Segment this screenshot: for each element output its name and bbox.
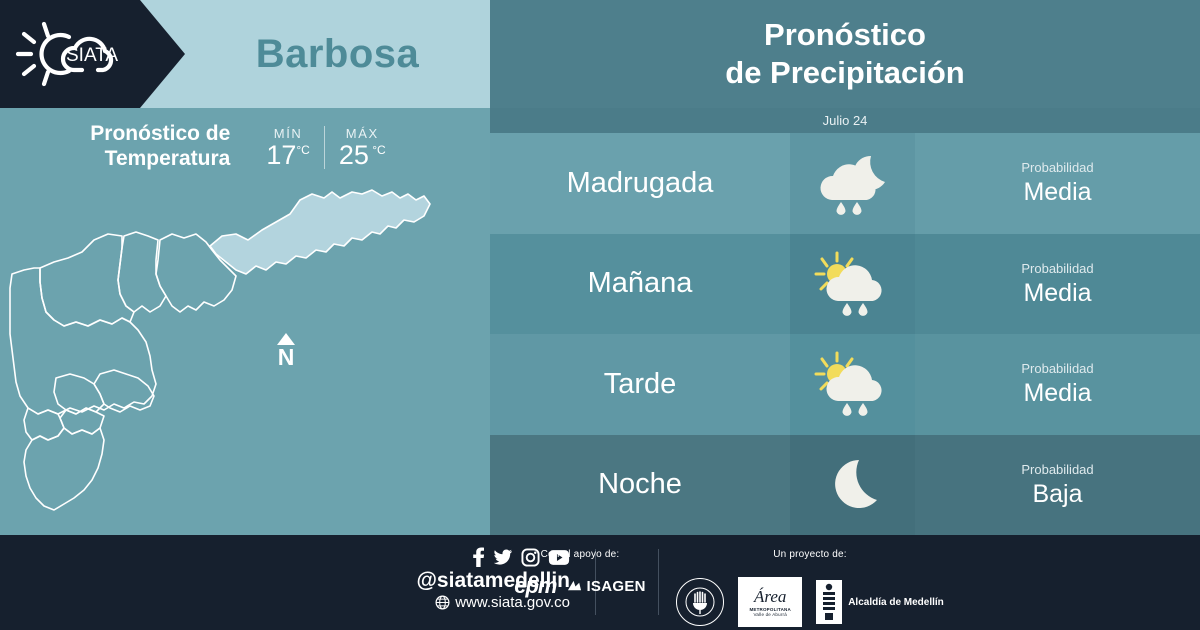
temperature-max: MÁX 25 °C — [325, 126, 400, 169]
probability-cell: Probabilidad Media — [915, 234, 1200, 335]
alcaldia-mark-icon — [816, 580, 842, 624]
project-logos: Área METROPOLITANA Valle de Aburrá — [676, 577, 944, 627]
temperature-max-value: 25 — [339, 140, 369, 170]
facebook-icon[interactable] — [472, 547, 485, 567]
period-label: Tarde — [604, 368, 677, 401]
moon-cloud-rain-icon — [811, 150, 895, 216]
sun-cloud-rain-icon — [811, 251, 895, 317]
left-panel: SIATA Barbosa Pronóstico de Temperatura … — [0, 0, 490, 535]
map-region-barbosa — [210, 190, 430, 274]
period-label: Madrugada — [567, 167, 714, 200]
probability-caption: Probabilidad — [1021, 461, 1093, 479]
map-region-medellin — [10, 268, 156, 414]
probability-cell: Probabilidad Media — [915, 133, 1200, 234]
probability-cell: Probabilidad Media — [915, 334, 1200, 435]
epm-logo: epm — [514, 573, 556, 599]
support-logos: epm ISAGEN — [514, 573, 646, 599]
temperature-max-label: MÁX — [346, 126, 379, 141]
udea-emblem-icon — [684, 586, 716, 618]
period-cell: Tarde — [490, 334, 790, 435]
temperature-min: MÍN 17°C — [252, 126, 325, 169]
forecast-date: Julio 24 — [490, 108, 1200, 133]
project-caption: Un proyecto de: — [773, 549, 847, 560]
probability-value: Baja — [1032, 479, 1082, 509]
temperature-values: MÍN 17°C MÁX 25 °C — [252, 126, 399, 169]
temperature-min-value-group: 17°C — [266, 142, 310, 169]
probability-caption: Probabilidad — [1021, 360, 1093, 378]
right-panel: Pronóstico de Precipitación Julio 24 Mad… — [490, 0, 1200, 535]
amva-logo: Área METROPOLITANA Valle de Aburrá — [738, 577, 802, 627]
aburra-valley-map — [0, 178, 490, 535]
probability-cell: Probabilidad Baja — [915, 435, 1200, 536]
map-region-bello — [40, 234, 134, 326]
moon-icon — [811, 452, 895, 518]
period-cell: Mañana — [490, 234, 790, 335]
period-cell: Noche — [490, 435, 790, 536]
sun-cloud-icon: SIATA — [12, 18, 132, 90]
support-caption: Con el apoyo de: — [541, 549, 620, 560]
probability-caption: Probabilidad — [1021, 260, 1093, 278]
temperature-min-label: MÍN — [274, 126, 303, 141]
alcaldia-emblem-icon — [816, 580, 842, 624]
weather-icon-cell — [790, 334, 915, 435]
city-title: Barbosa — [185, 0, 490, 108]
temperature-block: Pronóstico de Temperatura MÍN 17°C MÁX 2… — [0, 112, 490, 182]
map-svg — [0, 178, 490, 535]
probability-value: Media — [1023, 378, 1091, 408]
forecast-row-noche[interactable]: Noche Probabilidad Baja — [490, 435, 1200, 536]
forecast-row-manana[interactable]: Mañana — [490, 234, 1200, 335]
precipitation-title-line1: Pronóstico — [725, 16, 964, 54]
isagen-mark-icon — [566, 579, 583, 594]
amva-name: Área — [754, 588, 786, 605]
footer: @siatamedellin www.siata.gov.co Con el a… — [0, 535, 1200, 630]
temperature-min-unit: °C — [296, 143, 309, 157]
forecast-row-tarde[interactable]: Tarde — [490, 334, 1200, 435]
project-block: Un proyecto de: Área METROPOLITANA Valle… — [665, 549, 955, 627]
udea-seal-icon — [676, 578, 724, 626]
probability-caption: Probabilidad — [1021, 159, 1093, 177]
siata-logo-text: SIATA — [66, 45, 118, 66]
sun-cloud-rain-icon — [811, 351, 895, 417]
weather-icon-cell — [790, 133, 915, 234]
temperature-title-line1: Pronóstico de — [90, 122, 230, 147]
precipitation-title-line2: de Precipitación — [725, 54, 964, 92]
weather-icon-cell — [790, 435, 915, 536]
forecast-row-madrugada[interactable]: Madrugada Probabilidad Media — [490, 133, 1200, 234]
forecast-rows: Madrugada Probabilidad Media — [490, 133, 1200, 535]
period-cell: Madrugada — [490, 133, 790, 234]
temperature-title-line2: Temperatura — [90, 147, 230, 172]
city-name: Barbosa — [256, 32, 420, 77]
globe-icon — [435, 595, 450, 610]
period-label: Noche — [598, 468, 682, 501]
footer-divider-2 — [658, 549, 659, 615]
probability-value: Media — [1023, 278, 1091, 308]
amva-sub2: Valle de Aburrá — [753, 612, 786, 617]
temperature-title: Pronóstico de Temperatura — [90, 122, 230, 172]
compass-label: N — [278, 346, 295, 369]
period-label: Mañana — [588, 267, 693, 300]
temperature-max-value-group: 25 °C — [339, 142, 386, 169]
compass-north-icon: N — [277, 333, 295, 369]
weather-forecast-infographic: SIATA Barbosa Pronóstico de Temperatura … — [0, 0, 1200, 630]
precipitation-title: Pronóstico de Precipitación — [725, 16, 964, 92]
probability-value: Media — [1023, 177, 1091, 207]
weather-icon-cell — [790, 234, 915, 335]
temperature-max-unit: °C — [372, 143, 385, 157]
temperature-min-value: 17 — [266, 140, 296, 170]
support-block: Con el apoyo de: epm ISAGEN — [505, 549, 655, 599]
precipitation-header: Pronóstico de Precipitación — [490, 0, 1200, 108]
alcaldia-name: Alcaldía de Medellín — [848, 597, 944, 608]
alcaldia-logo: Alcaldía de Medellín — [816, 580, 944, 624]
isagen-logo: ISAGEN — [586, 578, 645, 595]
map-region-caldas — [24, 428, 104, 510]
